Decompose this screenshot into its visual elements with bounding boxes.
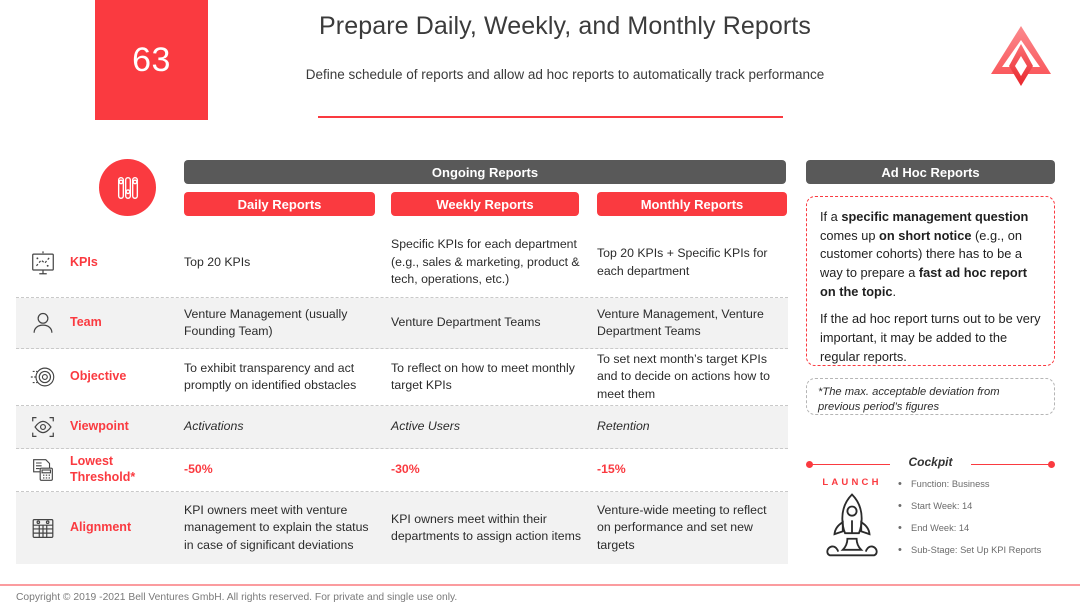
table-row: Objective To exhibit transparency and ac… (16, 349, 788, 406)
invoice-calculator-icon (16, 449, 70, 491)
adhoc-paragraph-2: If the ad hoc report turns out to be ver… (820, 310, 1041, 366)
row-label-alignment: Alignment (70, 520, 184, 536)
cell-lowest-daily: -50% (184, 461, 391, 478)
cell-objective-daily: To exhibit transparency and act promptly… (184, 360, 391, 395)
row-label-kpis: KPIs (70, 255, 184, 271)
adhoc-reports-panel: If a specific management question comes … (806, 196, 1055, 366)
cell-team-weekly: Venture Department Teams (391, 314, 597, 331)
cockpit-body: LAUNCH • Function: Business • (806, 477, 1055, 567)
cockpit-line-right (971, 464, 1049, 465)
cockpit-details: • Function: Business • Start Week: 14 • … (898, 477, 1055, 567)
column-header-daily-label: Daily Reports (238, 197, 322, 212)
target-icon (16, 349, 70, 405)
column-header-daily: Daily Reports (184, 192, 375, 216)
table-row: Team Venture Management (usually Foundin… (16, 298, 788, 349)
cell-alignment-monthly: Venture-wide meeting to reflect on perfo… (597, 502, 788, 554)
table-row: Viewpoint Activations Active Users Reten… (16, 406, 788, 449)
bullet-icon: • (898, 523, 911, 534)
cell-viewpoint-daily: Activations (184, 418, 391, 435)
row-label-objective: Objective (70, 369, 184, 385)
banner-adhoc-label: Ad Hoc Reports (881, 165, 979, 180)
adhoc-p1-t2: comes up (820, 228, 879, 243)
sliders-icon (99, 159, 156, 216)
cell-kpis-daily: Top 20 KPIs (184, 254, 391, 271)
cockpit-item-sub-stage: • Sub-Stage: Set Up KPI Reports (898, 545, 1055, 567)
cockpit-item-function-label: Function: Business (911, 479, 990, 489)
bullet-icon: • (898, 545, 911, 556)
cell-alignment-daily: KPI owners meet with venture management … (184, 502, 391, 554)
table-row: Lowest Threshold* -50% -30% -15% (16, 449, 788, 492)
page-title: Prepare Daily, Weekly, and Monthly Repor… (240, 12, 890, 41)
adhoc-p1-b1: specific management question (841, 209, 1028, 224)
title-underline-rule (318, 116, 783, 118)
adhoc-p1-b2: on short notice (879, 228, 971, 243)
column-header-monthly-label: Monthly Reports (641, 197, 744, 212)
column-header-monthly: Monthly Reports (597, 192, 787, 216)
reports-table: KPIs Top 20 KPIs Specific KPIs for each … (16, 228, 788, 564)
rocket-icon (819, 489, 885, 559)
cell-team-daily: Venture Management (usually Founding Tea… (184, 306, 391, 341)
banner-adhoc-reports: Ad Hoc Reports (806, 160, 1055, 184)
cell-lowest-monthly: -15% (597, 461, 788, 478)
slide-number-badge: 63 (95, 0, 208, 120)
cockpit-item-start-week: • Start Week: 14 (898, 501, 1055, 523)
column-header-weekly-label: Weekly Reports (436, 197, 533, 212)
table-row: KPIs Top 20 KPIs Specific KPIs for each … (16, 228, 788, 298)
row-label-viewpoint: Viewpoint (70, 419, 184, 435)
banner-ongoing-label: Ongoing Reports (432, 165, 538, 180)
cockpit-header: Cockpit (806, 455, 1055, 475)
cockpit-item-start-week-label: Start Week: 14 (911, 501, 972, 511)
calendar-icon (16, 492, 70, 564)
cell-kpis-weekly: Specific KPIs for each department (e.g.,… (391, 236, 597, 288)
footer-divider (0, 584, 1080, 586)
adhoc-p1-t1: If a (820, 209, 841, 224)
cockpit-item-end-week-label: End Week: 14 (911, 523, 969, 533)
column-header-weekly: Weekly Reports (391, 192, 579, 216)
row-label-lowest-threshold: Lowest Threshold* (70, 454, 184, 485)
bullet-icon: • (898, 501, 911, 512)
cockpit-title: Cockpit (806, 455, 1055, 469)
cell-team-monthly: Venture Management, Venture Department T… (597, 306, 788, 341)
page-subtitle: Define schedule of reports and allow ad … (300, 64, 830, 86)
footer-copyright: Copyright © 2019 -2021 Bell Ventures Gmb… (16, 592, 457, 603)
cockpit-dot-right (1048, 461, 1055, 468)
cell-alignment-weekly: KPI owners meet within their departments… (391, 511, 597, 546)
slide-root: 63 Prepare Daily, Weekly, and Monthly Re… (0, 0, 1080, 607)
adhoc-p1-t4: . (893, 284, 897, 299)
row-label-team: Team (70, 315, 184, 331)
cell-objective-weekly: To reflect on how to meet monthly target… (391, 360, 597, 395)
cockpit-item-function: • Function: Business (898, 479, 1055, 501)
cockpit-item-end-week: • End Week: 14 (898, 523, 1055, 545)
table-row: Alignment KPI owners meet with venture m… (16, 492, 788, 564)
adhoc-paragraph-1: If a specific management question comes … (820, 208, 1041, 301)
bell-ventures-logo-icon (985, 18, 1057, 90)
person-icon (16, 298, 70, 348)
eye-focus-icon (16, 406, 70, 448)
cell-kpis-monthly: Top 20 KPIs + Specific KPIs for each dep… (597, 245, 788, 280)
banner-ongoing-reports: Ongoing Reports (184, 160, 786, 184)
cell-lowest-weekly: -30% (391, 461, 597, 478)
cell-objective-monthly: To set next month’s target KPIs and to d… (597, 351, 788, 403)
cockpit-stage-label: LAUNCH (806, 477, 898, 488)
threshold-footnote: *The max. acceptable deviation from prev… (806, 378, 1055, 415)
bullet-icon: • (898, 479, 911, 490)
cockpit-item-sub-stage-label: Sub-Stage: Set Up KPI Reports (911, 545, 1041, 555)
cell-viewpoint-weekly: Active Users (391, 418, 597, 435)
kpi-board-icon (16, 228, 70, 297)
cockpit-panel: Cockpit LAUNCH • Functi (806, 455, 1055, 567)
slide-number: 63 (132, 41, 171, 80)
cell-viewpoint-monthly: Retention (597, 418, 788, 435)
cockpit-stage: LAUNCH (806, 477, 898, 567)
